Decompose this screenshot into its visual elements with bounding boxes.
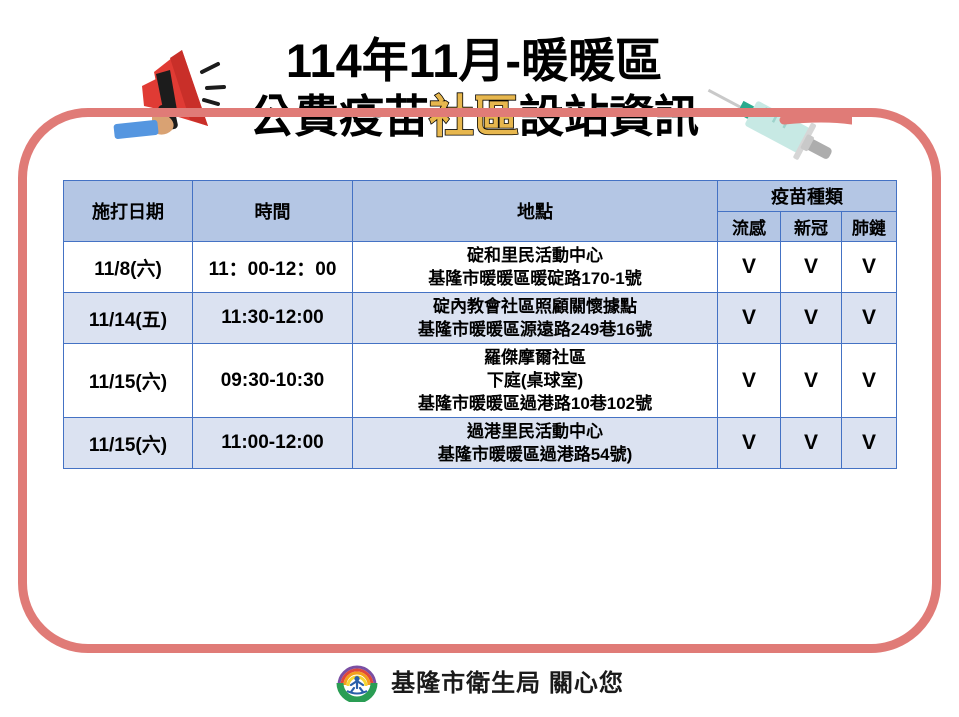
page-title-highlight: 社區 (429, 91, 519, 142)
table-row: 11/15(六) 11:00-12:00 過港里民活動中心 基隆市暖暖區過港路5… (64, 418, 897, 469)
cell-covid-mark: V (781, 242, 842, 293)
cell-pneumo-mark: V (842, 344, 897, 418)
place-line: 碇內教會社區照顧關懷據點 (356, 295, 714, 318)
place-line: 碇和里民活動中心 (356, 244, 714, 267)
cell-flu-mark: V (718, 293, 781, 344)
place-line: 基隆市暖暖區源遠路249巷16號 (356, 318, 714, 341)
cell-date: 11/15(六) (64, 418, 193, 469)
place-line: 基隆市暖暖區暖碇路170-1號 (356, 267, 714, 290)
place-line: 過港里民活動中心 (356, 420, 714, 443)
place-line: 基隆市暖暖區過港路54號) (356, 443, 714, 466)
table-row: 11/8(六) 11：00-12：00 碇和里民活動中心 基隆市暖暖區暖碇路17… (64, 242, 897, 293)
cell-time: 11:30-12:00 (193, 293, 353, 344)
place-line: 下庭(桌球室) (356, 369, 714, 392)
cell-place: 過港里民活動中心 基隆市暖暖區過港路54號) (353, 418, 718, 469)
column-header-vaccine-group: 疫苗種類 (718, 181, 897, 212)
cell-pneumo-mark: V (842, 293, 897, 344)
cell-pneumo-mark: V (842, 418, 897, 469)
footer-text: 基隆市衛生局 關心您 (391, 663, 624, 698)
megaphone-icon (112, 38, 230, 150)
cell-time: 11：00-12：00 (193, 242, 353, 293)
cell-covid-mark: V (781, 344, 842, 418)
page-title-line-1: 114年11月-暖暖區 (229, 34, 719, 88)
poster-footer: 基隆市衛生局 關心您 (0, 655, 959, 705)
poster-header: 114年11月-暖暖區 公費疫苗社區設站資訊 (0, 0, 959, 175)
cell-date: 11/15(六) (64, 344, 193, 418)
table-header-row-1: 施打日期 時間 地點 疫苗種類 (64, 181, 897, 212)
page-title-segment-after: 設站資訊 (519, 91, 699, 142)
column-header-flu: 流感 (718, 212, 781, 242)
cell-place: 碇內教會社區照顧關懷據點 基隆市暖暖區源遠路249巷16號 (353, 293, 718, 344)
cell-place: 碇和里民活動中心 基隆市暖暖區暖碇路170-1號 (353, 242, 718, 293)
page-title-line-2: 公費疫苗社區設站資訊 (229, 90, 719, 144)
cell-flu-mark: V (718, 344, 781, 418)
cell-pneumo-mark: V (842, 242, 897, 293)
vaccine-station-table: 施打日期 時間 地點 疫苗種類 流感 新冠 肺鏈 11/8(六) 11：00-1… (63, 180, 897, 469)
place-line: 基隆市暖暖區過港路10巷102號 (356, 392, 714, 415)
column-header-covid: 新冠 (781, 212, 842, 242)
table-row: 11/14(五) 11:30-12:00 碇內教會社區照顧關懷據點 基隆市暖暖區… (64, 293, 897, 344)
keelung-health-bureau-logo (335, 658, 379, 702)
cell-date: 11/8(六) (64, 242, 193, 293)
page-title-segment-before: 公費疫苗 (249, 91, 429, 142)
column-header-time: 時間 (193, 181, 353, 242)
poster-title: 114年11月-暖暖區 公費疫苗社區設站資訊 (229, 34, 719, 144)
cell-covid-mark: V (781, 293, 842, 344)
cell-time: 09:30-10:30 (193, 344, 353, 418)
column-header-pneumo: 肺鏈 (842, 212, 897, 242)
table-body: 11/8(六) 11：00-12：00 碇和里民活動中心 基隆市暖暖區暖碇路17… (64, 242, 897, 469)
cell-flu-mark: V (718, 242, 781, 293)
cell-place: 羅傑摩爾社區 下庭(桌球室) 基隆市暖暖區過港路10巷102號 (353, 344, 718, 418)
cell-covid-mark: V (781, 418, 842, 469)
column-header-date: 施打日期 (64, 181, 193, 242)
table-header: 施打日期 時間 地點 疫苗種類 流感 新冠 肺鏈 (64, 181, 897, 242)
place-line: 羅傑摩爾社區 (356, 346, 714, 369)
cell-flu-mark: V (718, 418, 781, 469)
cell-time: 11:00-12:00 (193, 418, 353, 469)
table-row: 11/15(六) 09:30-10:30 羅傑摩爾社區 下庭(桌球室) 基隆市暖… (64, 344, 897, 418)
cell-date: 11/14(五) (64, 293, 193, 344)
syringe-icon (692, 72, 852, 177)
column-header-place: 地點 (353, 181, 718, 242)
